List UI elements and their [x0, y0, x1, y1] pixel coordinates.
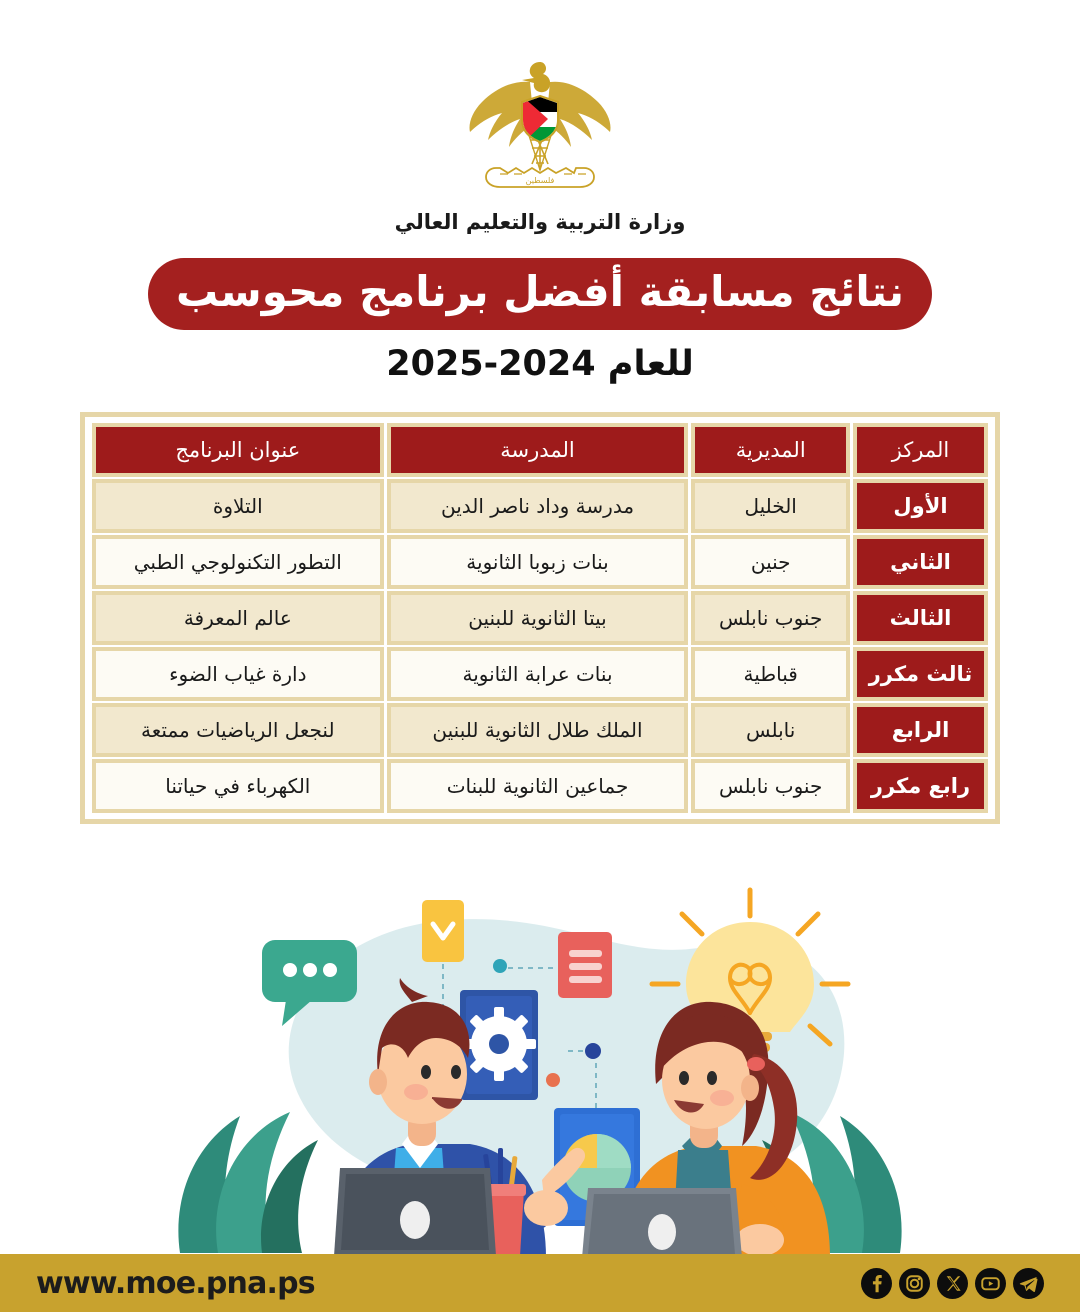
telegram-icon[interactable] [1013, 1268, 1044, 1299]
cell-prog: التطور التكنولوجي الطبي [92, 535, 384, 589]
plant-leaf-icon [178, 1112, 318, 1253]
results-table-frame: المركز المديرية المدرسة عنوان البرنامج ا… [80, 412, 1000, 824]
cell-rank: الأول [853, 479, 988, 533]
cell-dir: قباطية [691, 647, 850, 701]
youtube-icon[interactable] [975, 1268, 1006, 1299]
column-header-prog: عنوان البرنامج [92, 423, 384, 477]
cell-school: بنات زبوبا الثانوية [387, 535, 689, 589]
cell-dir: جنين [691, 535, 850, 589]
page-title: نتائج مسابقة أفضل برنامج محوسب [176, 271, 904, 317]
table-row: رابع مكرر جنوب نابلس جماعين الثانوية للب… [92, 759, 988, 813]
cell-school: بيتا الثانوية للبنين [387, 591, 689, 645]
cell-school: بنات عرابة الثانوية [387, 647, 689, 701]
cell-rank: الرابع [853, 703, 988, 757]
chevron-down-card-icon [422, 900, 464, 962]
table-header-row: المركز المديرية المدرسة عنوان البرنامج [92, 423, 988, 477]
ministry-logo-block: فلسطين وزارة التربية والتعليم العالي [395, 52, 686, 234]
page-subtitle: للعام 2024-2025 [386, 344, 694, 384]
connector-dot [493, 959, 507, 973]
instagram-icon[interactable] [899, 1268, 930, 1299]
ministry-name-label: وزارة التربية والتعليم العالي [395, 210, 686, 234]
social-links [861, 1268, 1044, 1299]
palestine-eagle-emblem-icon: فلسطين [456, 52, 624, 202]
column-header-school: المدرسة [387, 423, 689, 477]
cell-school: مدرسة وداد ناصر الدين [387, 479, 689, 533]
cell-school: الملك طلال الثانوية للبنين [387, 703, 689, 757]
cell-school: جماعين الثانوية للبنات [387, 759, 689, 813]
column-header-rank: المركز [853, 423, 988, 477]
website-url[interactable]: www.moe.pna.ps [36, 1266, 315, 1301]
cell-prog: عالم المعرفة [92, 591, 384, 645]
cell-dir: جنوب نابلس [691, 759, 850, 813]
cell-dir: الخليل [691, 479, 850, 533]
cell-prog: لنجعل الرياضيات ممتعة [92, 703, 384, 757]
table-row: الأول الخليل مدرسة وداد ناصر الدين التلا… [92, 479, 988, 533]
cell-prog: دارة غياب الضوء [92, 647, 384, 701]
cell-rank: رابع مكرر [853, 759, 988, 813]
cell-dir: جنوب نابلس [691, 591, 850, 645]
table-row: الثاني جنين بنات زبوبا الثانوية التطور ا… [92, 535, 988, 589]
title-banner: نتائج مسابقة أفضل برنامج محوسب [148, 258, 932, 330]
poster-page: فلسطين وزارة التربية والتعليم العالي نتا… [0, 0, 1080, 1312]
connector-dot [546, 1073, 560, 1087]
connector-dot [585, 1043, 601, 1059]
cell-prog: التلاوة [92, 479, 384, 533]
laptop-icon [334, 1168, 496, 1256]
table-row: الرابع نابلس الملك طلال الثانوية للبنين … [92, 703, 988, 757]
gear-card-icon [460, 990, 538, 1100]
svg-text:فلسطين: فلسطين [526, 176, 555, 185]
facebook-icon[interactable] [861, 1268, 892, 1299]
column-header-dir: المديرية [691, 423, 850, 477]
footer-bar: www.moe.pna.ps [0, 1254, 1080, 1312]
cell-dir: نابلس [691, 703, 850, 757]
illustration-container [0, 868, 1080, 1258]
table-row: الثالث جنوب نابلس بيتا الثانوية للبنين ع… [92, 591, 988, 645]
cell-rank: الثالث [853, 591, 988, 645]
cell-prog: الكهرباء في حياتنا [92, 759, 384, 813]
laptop-icon [582, 1188, 742, 1258]
results-table: المركز المديرية المدرسة عنوان البرنامج ا… [89, 421, 991, 815]
cell-rank: الثاني [853, 535, 988, 589]
document-lines-card-icon [558, 932, 612, 998]
cell-rank: ثالث مكرر [853, 647, 988, 701]
x-twitter-icon[interactable] [937, 1268, 968, 1299]
palestine-flag-shield-icon [522, 96, 558, 144]
students-with-laptops-illustration [150, 868, 930, 1258]
table-row: ثالث مكرر قباطية بنات عرابة الثانوية دار… [92, 647, 988, 701]
